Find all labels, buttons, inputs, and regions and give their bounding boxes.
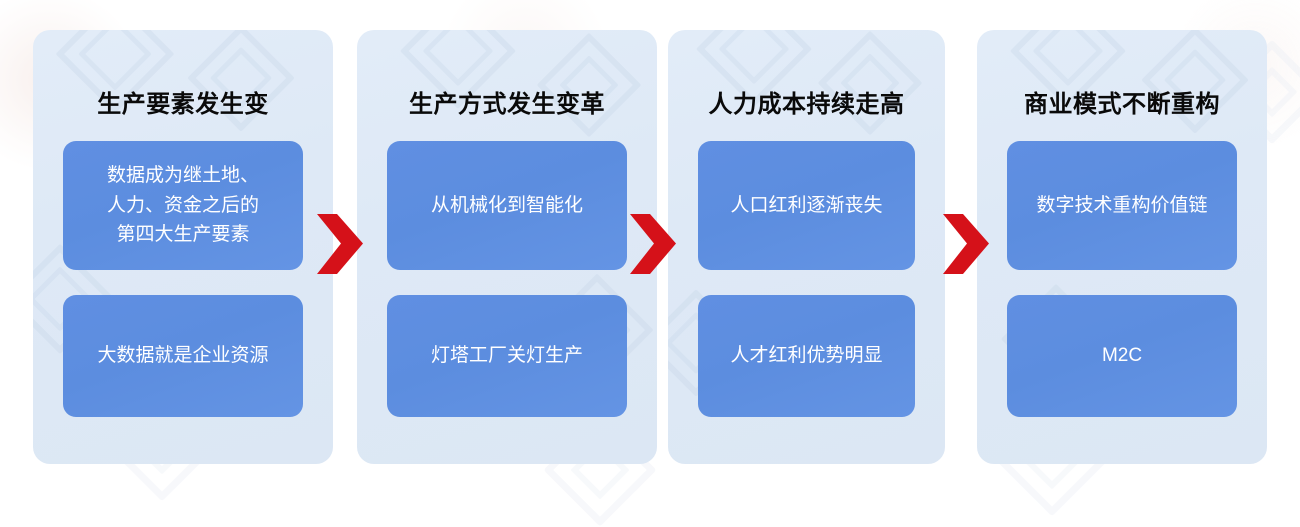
process-flow-diagram: 生产要素发生变 数据成为继土地、 人力、资金之后的 第四大生产要素 大数据就是企… [0,0,1300,514]
stage-4-card-2-label: M2C [1102,341,1142,370]
stage-panel-1[interactable]: 生产要素发生变 数据成为继土地、 人力、资金之后的 第四大生产要素 大数据就是企… [33,30,333,464]
stage-panel-2[interactable]: 生产方式发生变革 从机械化到智能化 灯塔工厂关灯生产 [357,30,657,464]
stage-3-card-2-label: 人才红利优势明显 [730,341,882,370]
stage-2-card-1[interactable]: 从机械化到智能化 [387,141,627,270]
stage-title-1: 生产要素发生变 [33,92,333,118]
stage-title-2: 生产方式发生变革 [357,92,657,118]
stage-2-card-2-label: 灯塔工厂关灯生产 [431,341,583,370]
stage-3-card-1-label: 人口红利逐渐丧失 [730,191,882,220]
flow-arrow-3 [939,212,991,276]
stage-4-card-1[interactable]: 数字技术重构价值链 [1007,141,1237,270]
stage-1-card-1-label: 数据成为继土地、 人力、资金之后的 第四大生产要素 [107,161,259,249]
stage-4-card-1-label: 数字技术重构价值链 [1036,191,1207,220]
stage-3-card-1[interactable]: 人口红利逐渐丧失 [698,141,915,270]
stage-1-card-2[interactable]: 大数据就是企业资源 [63,295,303,417]
flow-arrow-2 [626,212,678,276]
stage-title-4: 商业模式不断重构 [977,92,1267,118]
stage-4-card-2[interactable]: M2C [1007,295,1237,417]
flow-arrow-1 [313,212,365,276]
stage-panel-4[interactable]: 商业模式不断重构 数字技术重构价值链 M2C [977,30,1267,464]
stage-3-card-2[interactable]: 人才红利优势明显 [698,295,915,417]
stage-2-card-1-label: 从机械化到智能化 [431,191,583,220]
stage-2-card-2[interactable]: 灯塔工厂关灯生产 [387,295,627,417]
panel-watermark [818,31,923,136]
stage-title-3: 人力成本持续走高 [668,92,945,118]
stage-1-card-2-label: 大数据就是企业资源 [97,341,268,370]
stage-panel-3[interactable]: 人力成本持续走高 人口红利逐渐丧失 人才红利优势明显 [668,30,945,464]
stage-1-card-1[interactable]: 数据成为继土地、 人力、资金之后的 第四大生产要素 [63,141,303,270]
panel-watermark [537,33,642,138]
